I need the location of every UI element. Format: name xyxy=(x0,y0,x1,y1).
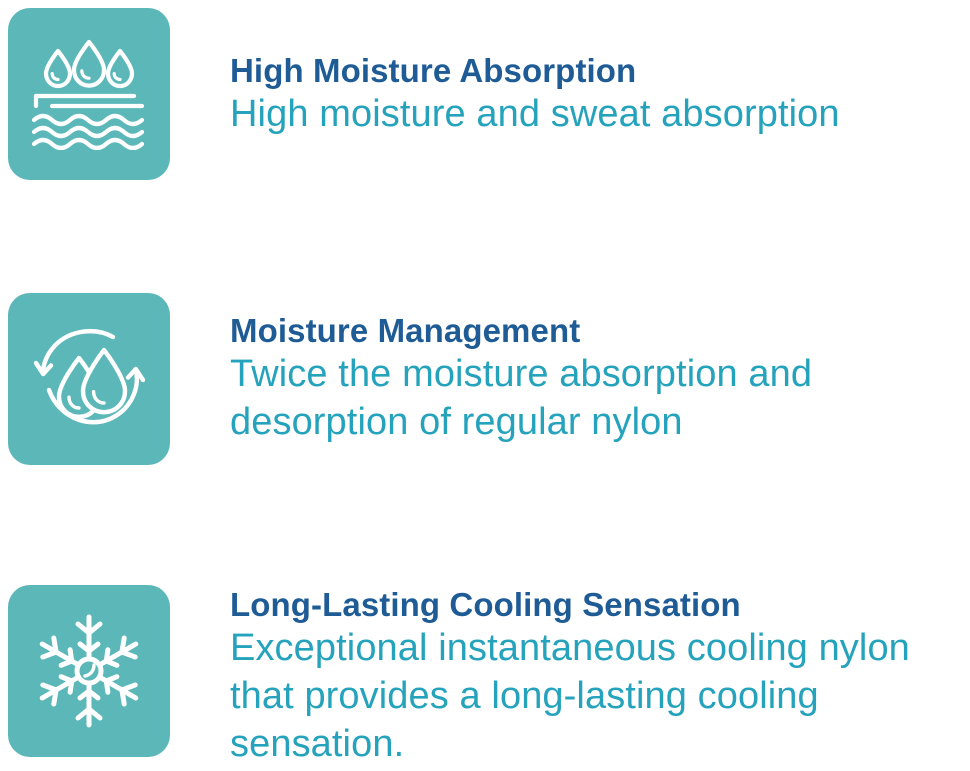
feature-text-block: Long-Lasting Cooling Sensation Exception… xyxy=(230,585,970,769)
feature-description: Twice the moisture absorption and desorp… xyxy=(230,351,885,447)
feature-row: Long-Lasting Cooling Sensation Exception… xyxy=(0,585,970,769)
water-droplets-absorption-icon xyxy=(28,38,150,150)
feature-row: High Moisture Absorption High moisture a… xyxy=(0,8,970,180)
feature-title: Long-Lasting Cooling Sensation xyxy=(230,585,970,625)
feature-description: Exceptional instantaneous cooling nylon … xyxy=(230,625,970,769)
moisture-cycle-droplet-icon xyxy=(30,320,148,438)
feature-title: High Moisture Absorption xyxy=(230,51,970,91)
feature-row: Moisture Management Twice the moisture a… xyxy=(0,293,970,465)
feature-text-block: High Moisture Absorption High moisture a… xyxy=(230,8,970,139)
feature-title: Moisture Management xyxy=(230,311,970,351)
feature-list-page: High Moisture Absorption High moisture a… xyxy=(0,0,970,771)
icon-tile xyxy=(8,293,170,465)
icon-tile xyxy=(8,585,170,757)
feature-text-block: Moisture Management Twice the moisture a… xyxy=(230,293,970,447)
feature-description: High moisture and sweat absorption xyxy=(230,91,970,139)
snowflake-cooling-icon xyxy=(29,611,149,731)
icon-tile xyxy=(8,8,170,180)
